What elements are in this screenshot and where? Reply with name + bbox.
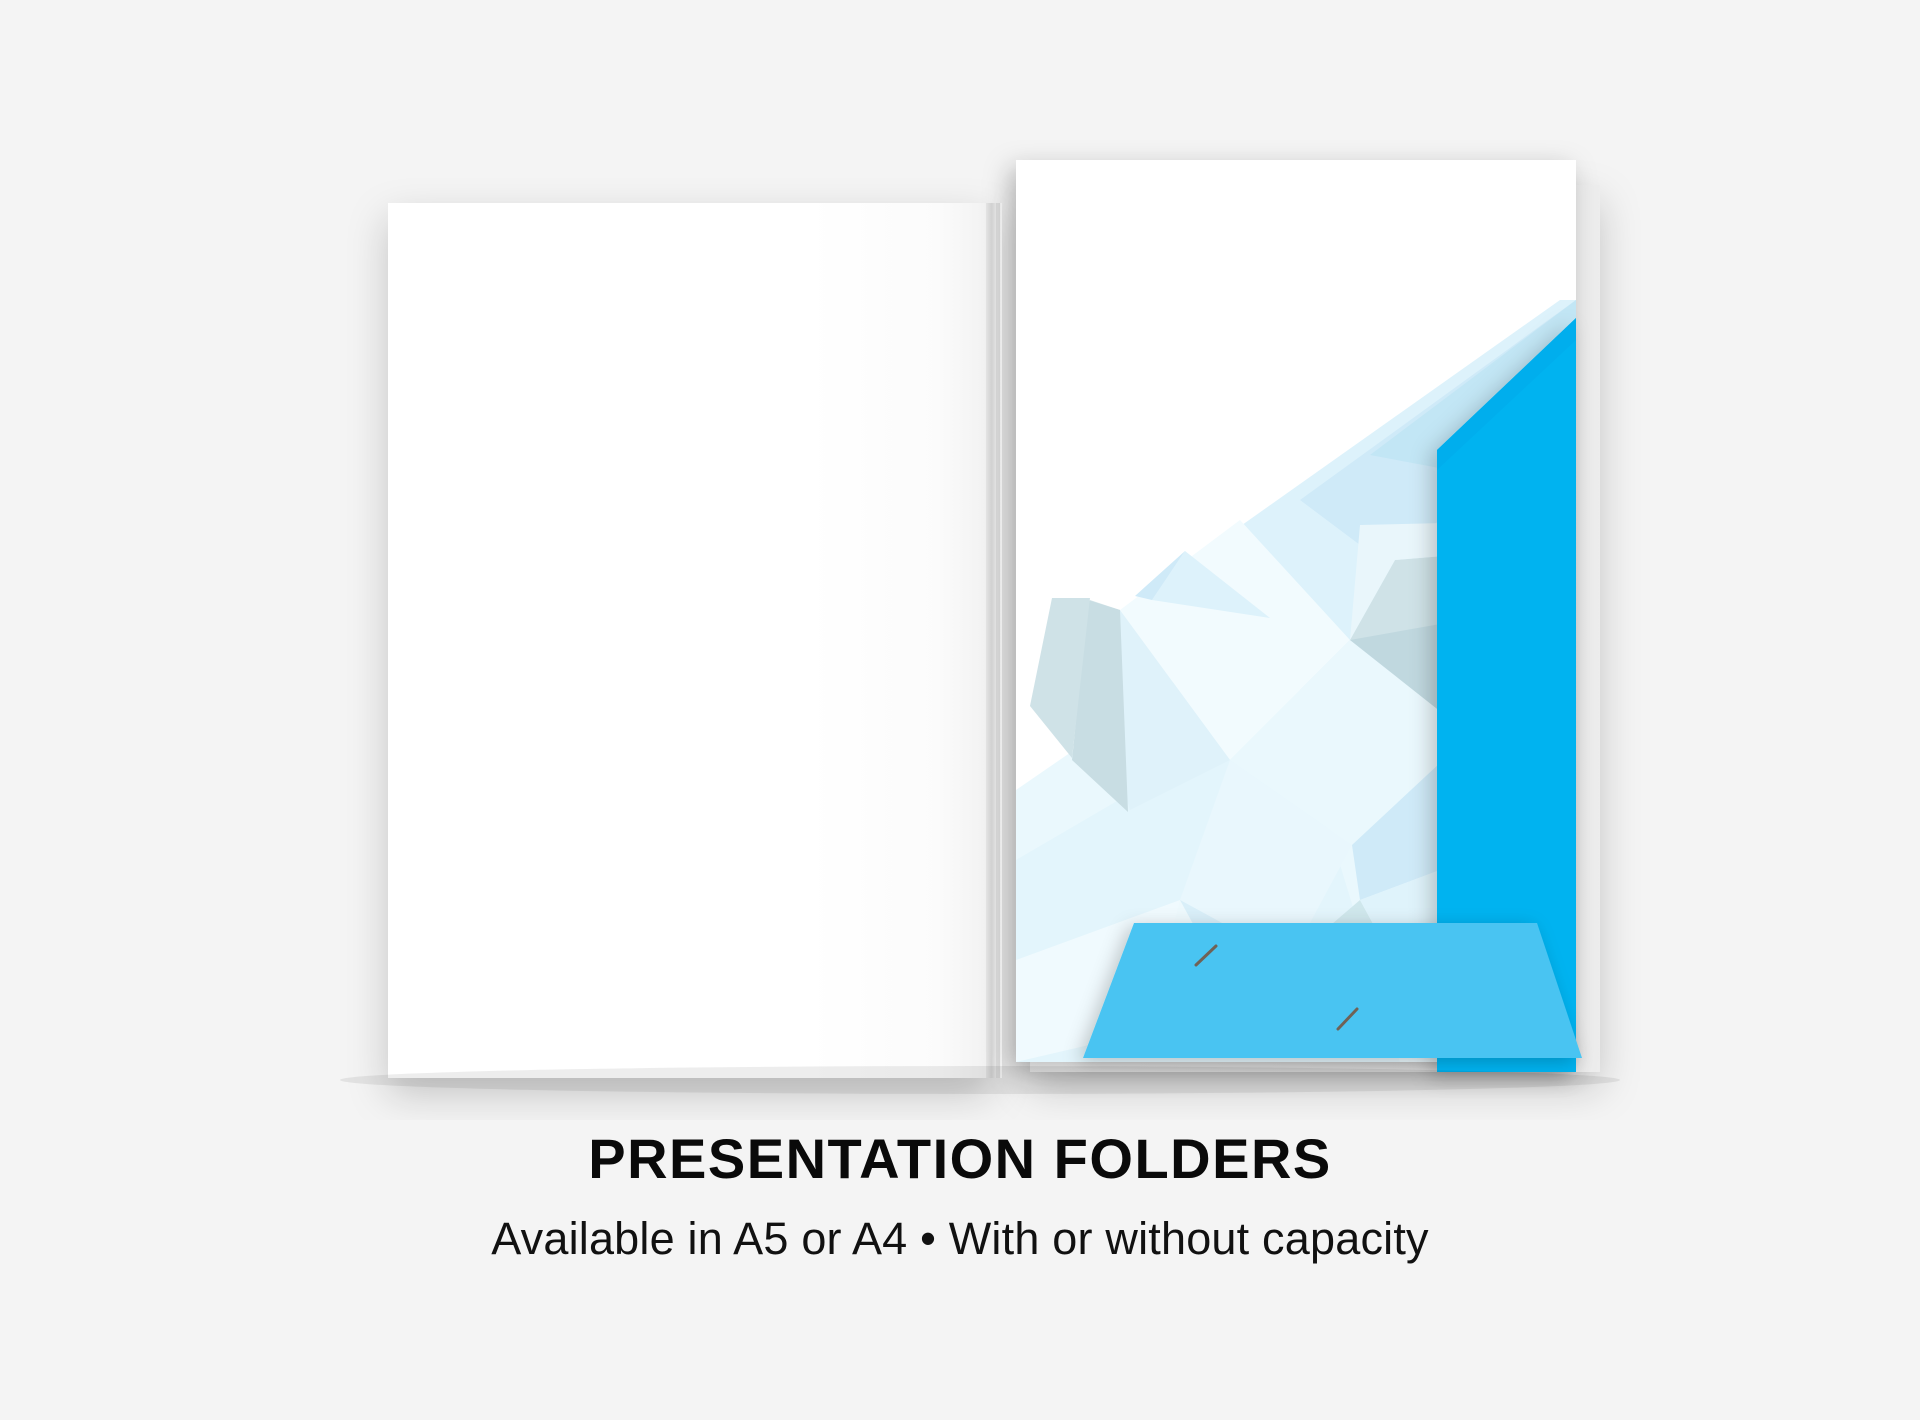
caption-subtitle: Available in A5 or A4 • With or without … [0, 1189, 1920, 1262]
ground-shadow [340, 1066, 1620, 1094]
pocket-flap [1083, 923, 1582, 1058]
page-title: PRESENTATION FOLDERS [0, 1130, 1920, 1189]
product-illustration [0, 0, 1920, 1120]
folder-spine [986, 203, 1002, 1078]
screenshot-canvas: PRESENTATION FOLDERS Available in A5 or … [0, 0, 1920, 1420]
left-panel [388, 203, 990, 1078]
caption: PRESENTATION FOLDERS Available in A5 or … [0, 1130, 1920, 1262]
